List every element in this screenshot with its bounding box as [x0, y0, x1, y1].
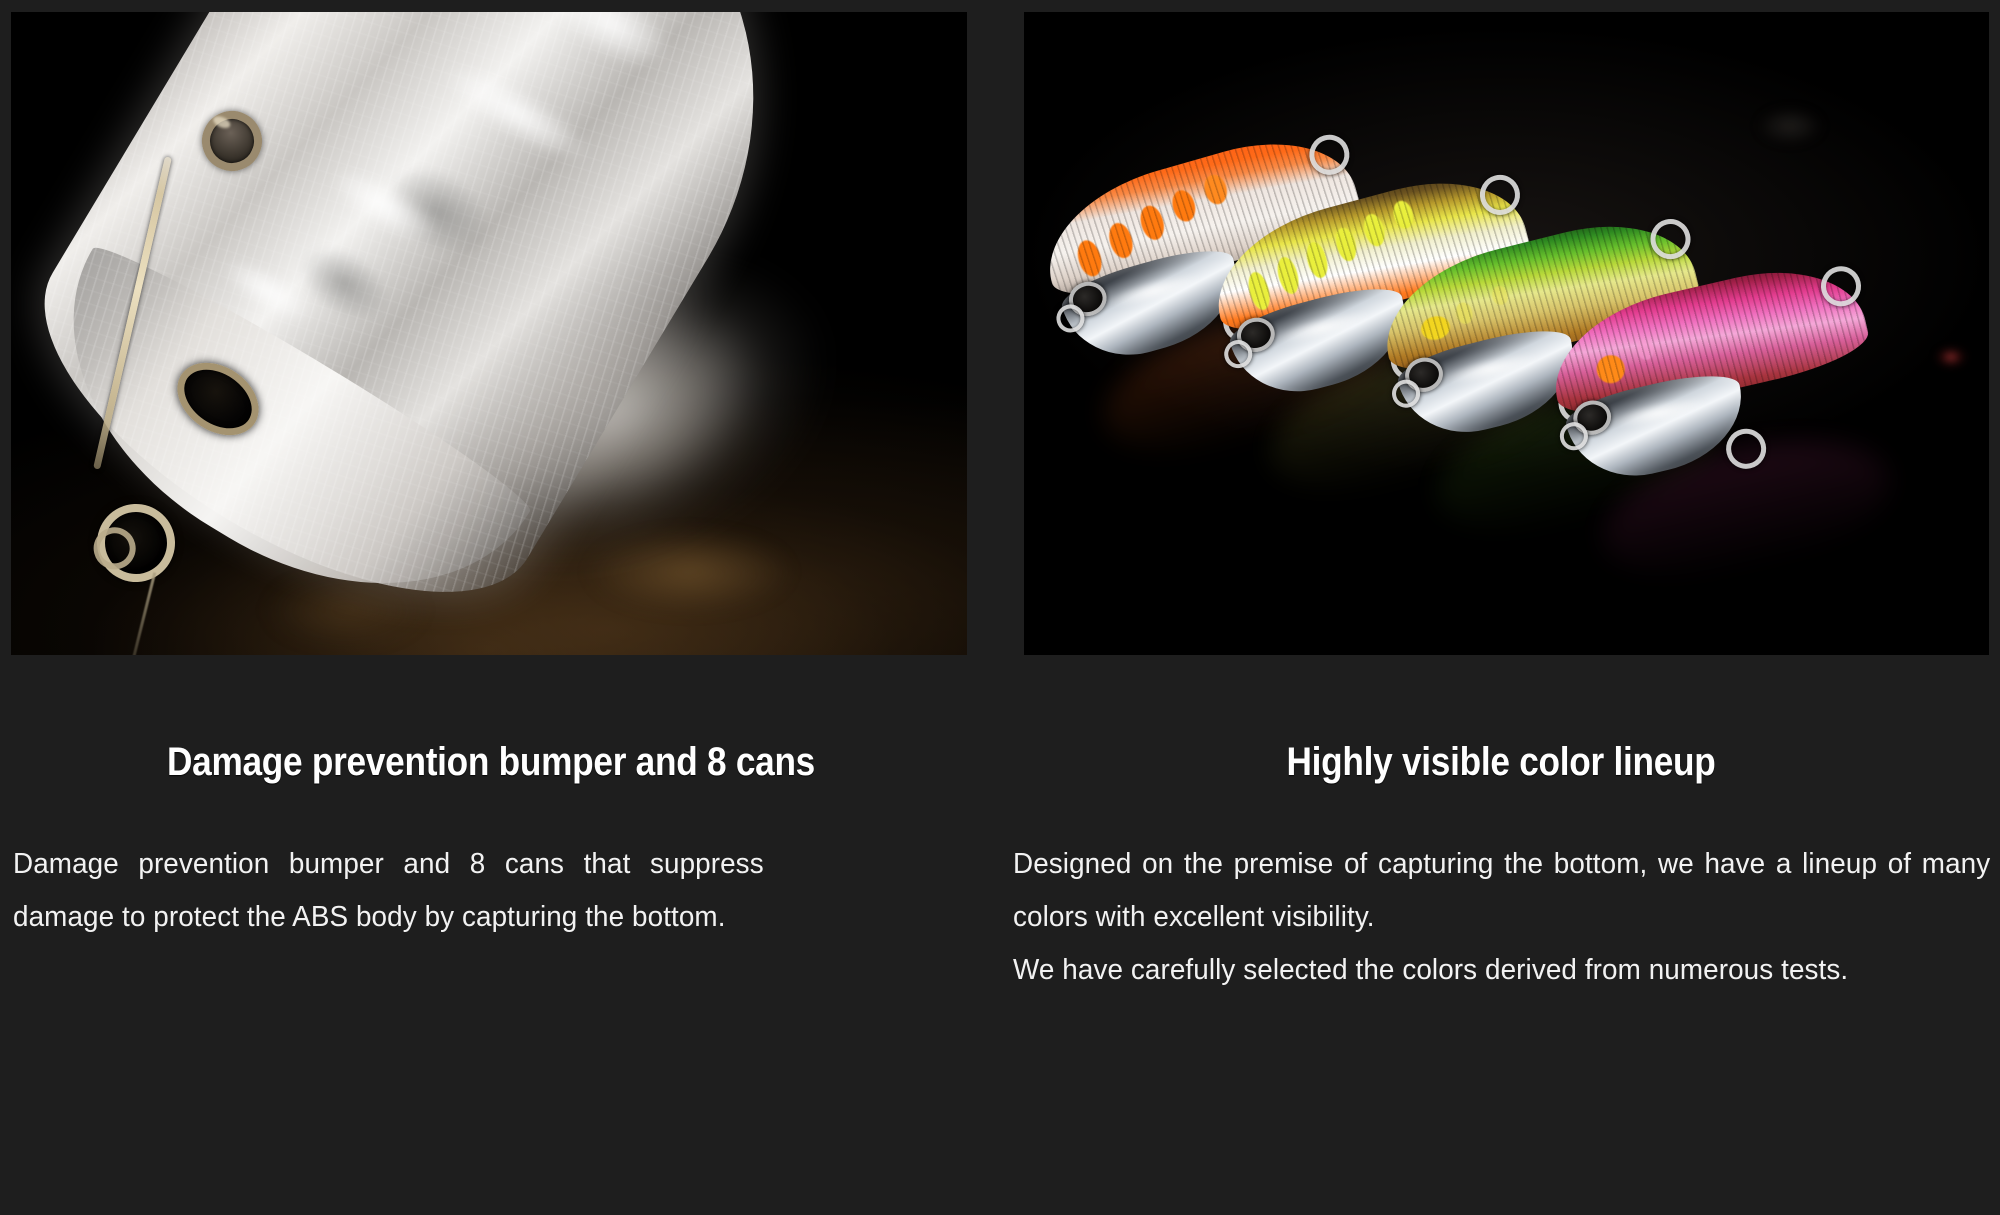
feature-photo-row [11, 12, 1989, 655]
feature-description: Designed on the premise of capturing the… [1013, 784, 1990, 997]
feature-column-color-lineup: Highly visible color lineup Designed on … [1013, 668, 1989, 997]
photo-canvas-left [11, 12, 967, 655]
photo-canvas-right [1024, 12, 1989, 655]
feature-title: Highly visible color lineup [1072, 668, 1931, 784]
feature-description: Damage prevention bumper and 8 cans that… [13, 784, 764, 944]
color-lineup-photo [1024, 12, 1989, 655]
feature-text-row: Damage prevention bumper and 8 cans Dama… [0, 668, 2000, 1215]
feature-paragraph: We have carefully selected the colors de… [1013, 944, 1990, 997]
damage-prevention-photo [11, 12, 967, 655]
feature-paragraph: Designed on the premise of capturing the… [1013, 838, 1990, 944]
feature-column-damage-prevention: Damage prevention bumper and 8 cans Dama… [13, 668, 969, 944]
feature-title: Damage prevention bumper and 8 cans [70, 668, 911, 784]
product-feature-page: Damage prevention bumper and 8 cans Dama… [0, 0, 2000, 1215]
feature-paragraph: Damage prevention bumper and 8 cans that… [13, 838, 764, 944]
background-glow [1745, 102, 1835, 150]
